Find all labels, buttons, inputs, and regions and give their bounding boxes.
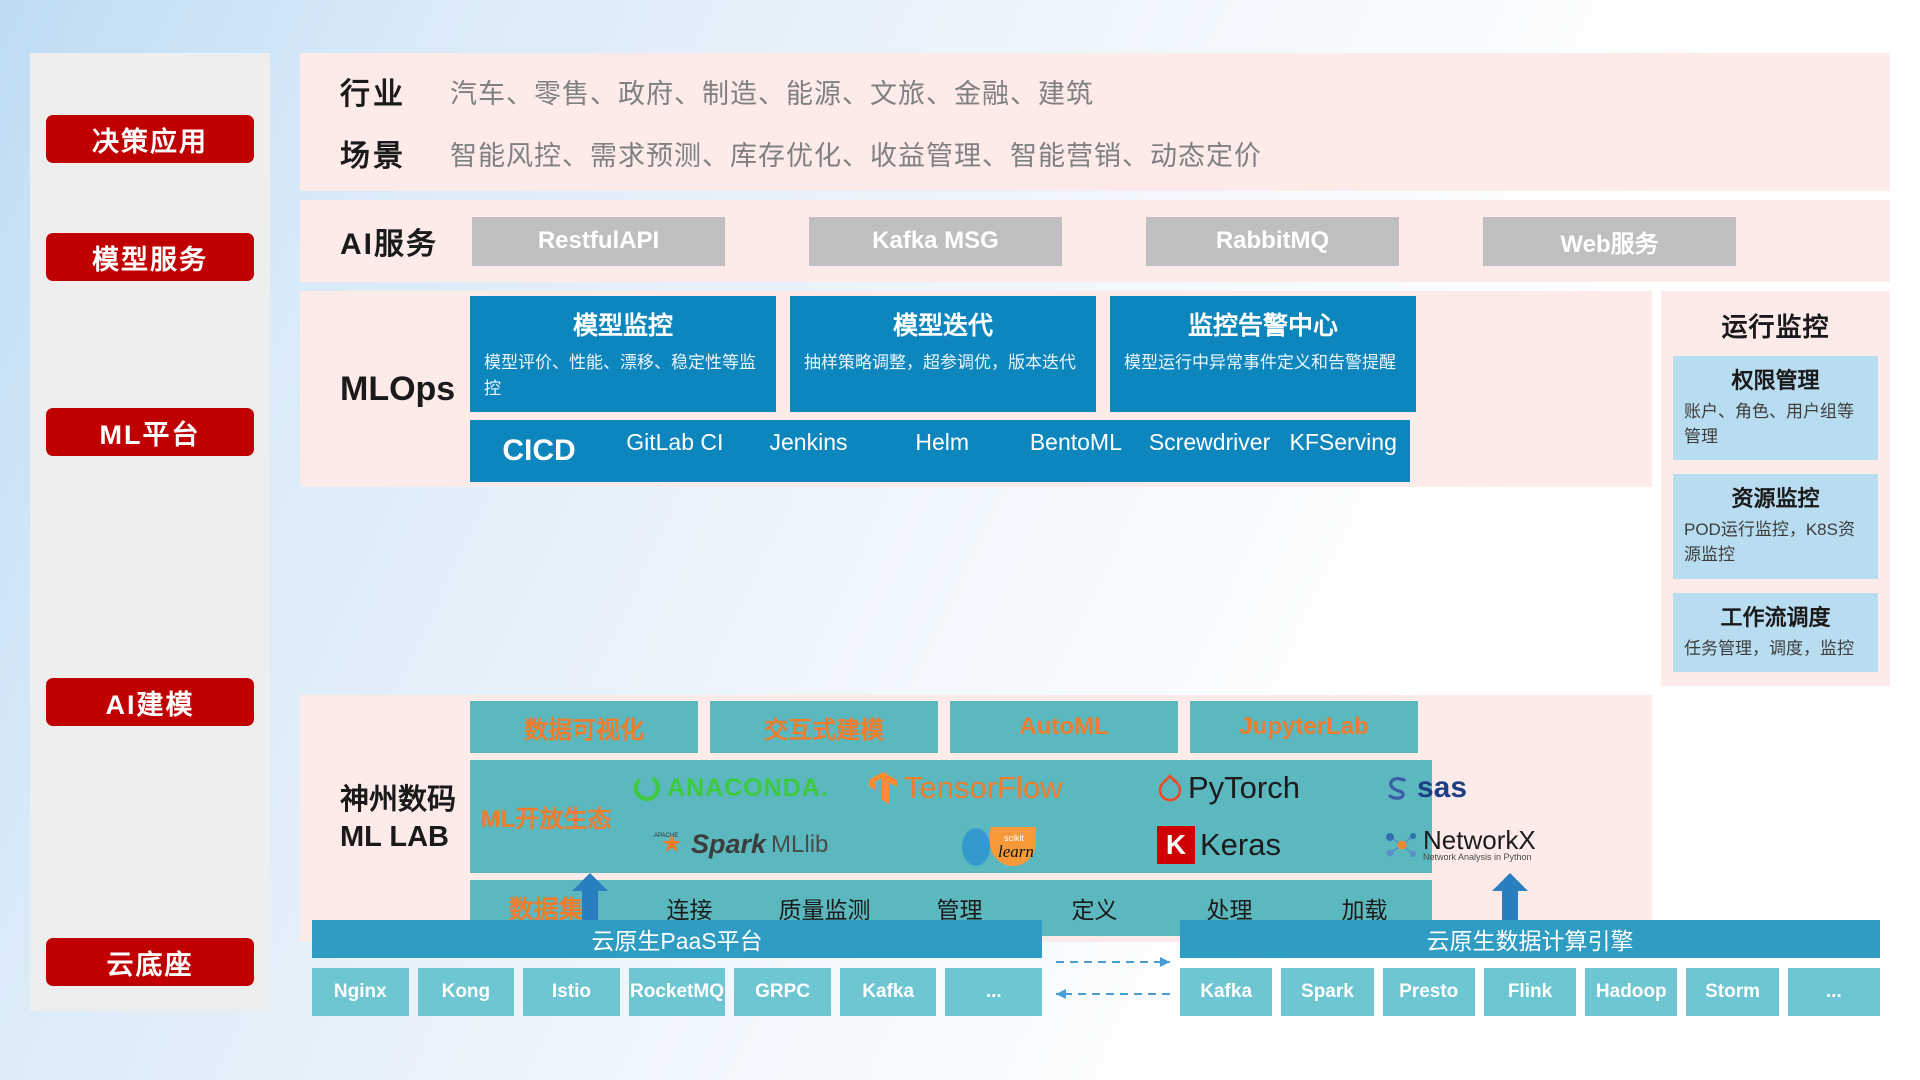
mlops-card-alert-center[interactable]: 监控告警中心 模型运行中异常事件定义和告警提醒	[1110, 296, 1416, 412]
rail-item-ml-platform[interactable]: ML平台	[46, 408, 254, 456]
cicd-item-helm[interactable]: Helm	[875, 420, 1009, 454]
bidirectional-dashed-connector	[1048, 948, 1178, 1008]
scikit-learn-icon: scikit learn	[954, 821, 1050, 869]
tensorflow-icon	[867, 770, 899, 806]
mllab-tab-label: 数据可视化	[524, 710, 644, 745]
anaconda-label: ANACONDA.	[667, 774, 829, 803]
mllab-tab-interactive-modeling[interactable]: 交互式建模	[710, 701, 938, 753]
ai-service-band: AI服务 RestfulAPI Kafka MSG RabbitMQ Web服务	[300, 200, 1890, 282]
rail-item-decision-app[interactable]: 决策应用	[46, 115, 254, 163]
industry-label: 行业	[340, 69, 450, 113]
svg-text:learn: learn	[998, 842, 1034, 861]
cloud-group-data-engine: 云原生数据计算引擎 Kafka Spark Presto Flink Hadoo…	[1180, 920, 1880, 1016]
monitor-card-title: 工作流调度	[1684, 600, 1867, 632]
engine-chip-hadoop[interactable]: Hadoop	[1585, 968, 1677, 1016]
industry-row: 行业 汽车、零售、政府、制造、能源、文旅、金融、建筑	[340, 69, 1262, 113]
rail-item-ai-modeling[interactable]: AI建模	[46, 678, 254, 726]
left-rail: 决策应用 模型服务 ML平台 AI建模 云底座	[30, 53, 270, 1011]
cicd-item-jenkins[interactable]: Jenkins	[742, 420, 876, 454]
scenario-label: 场景	[340, 131, 450, 175]
mllib-label: MLlib	[771, 831, 828, 859]
ml-ecosystem-row: ML开放生态 ANACONDA.	[470, 760, 1432, 873]
networkx-sublabel: Network Analysis in Python	[1423, 853, 1536, 862]
rail-item-label: 模型服务	[92, 238, 208, 277]
paas-chip-kong[interactable]: Kong	[418, 968, 515, 1016]
spark-mllib-logo: APACHE Spark MLlib	[622, 829, 867, 861]
cicd-item-kfserving[interactable]: KFServing	[1276, 420, 1410, 454]
ecosystem-logo-line-top: ANACONDA. TensorFlow	[622, 760, 1536, 817]
ai-service-box-label: RabbitMQ	[1216, 227, 1329, 255]
cicd-item-bentoml[interactable]: BentoML	[1009, 420, 1143, 454]
keras-label: Keras	[1200, 827, 1281, 863]
keras-icon: K	[1157, 826, 1195, 864]
engine-chip-spark[interactable]: Spark	[1281, 968, 1373, 1016]
paas-chip-rocketmq[interactable]: RocketMQ	[629, 968, 726, 1016]
mlops-card-model-iteration[interactable]: 模型迭代 抽样策略调整，超参调优，版本迭代	[790, 296, 1096, 412]
networkx-label: NetworkX	[1423, 827, 1536, 853]
paas-chip-istio[interactable]: Istio	[523, 968, 620, 1016]
runtime-monitor-title: 运行监控	[1673, 307, 1878, 344]
monitor-card-desc: POD运行监控，K8S资源监控	[1684, 518, 1867, 567]
tensorflow-logo: TensorFlow	[867, 770, 1157, 806]
scenario-value: 智能风控、需求预测、库存优化、收益管理、智能营销、动态定价	[450, 134, 1262, 173]
ecosystem-logo-line-bottom: APACHE Spark MLlib scikit	[622, 817, 1536, 874]
monitor-card-title: 权限管理	[1684, 363, 1867, 395]
monitor-card-desc: 任务管理，调度，监控	[1684, 637, 1867, 662]
engine-chip-kafka[interactable]: Kafka	[1180, 968, 1272, 1016]
rail-item-model-service[interactable]: 模型服务	[46, 233, 254, 281]
monitor-card-title: 资源监控	[1684, 481, 1867, 513]
spark-icon: APACHE	[652, 829, 686, 861]
paas-header: 云原生PaaS平台	[312, 920, 1042, 958]
sas-logo: sas	[1382, 771, 1467, 805]
main-content: 行业 汽车、零售、政府、制造、能源、文旅、金融、建筑 场景 智能风控、需求预测、…	[300, 53, 1890, 942]
engine-chip-flink[interactable]: Flink	[1484, 968, 1576, 1016]
monitor-card-resource[interactable]: 资源监控 POD运行监控，K8S资源监控	[1673, 474, 1878, 578]
ai-service-box-label: Kafka MSG	[872, 227, 999, 255]
mllab-tab-data-visualization[interactable]: 数据可视化	[470, 701, 698, 753]
paas-chip-more[interactable]: ...	[945, 968, 1042, 1016]
mlops-band: MLOps 模型监控 模型评价、性能、漂移、稳定性等监控 模型迭代 抽样策略调整…	[300, 291, 1652, 487]
mllab-label: 神州数码 ML LAB	[340, 782, 470, 855]
mllab-tab-label: JupyterLab	[1239, 713, 1368, 741]
mlops-label: MLOps	[340, 370, 470, 409]
mlops-card-title: 模型迭代	[804, 306, 1082, 342]
mlops-card-model-monitoring[interactable]: 模型监控 模型评价、性能、漂移、稳定性等监控	[470, 296, 776, 412]
engine-chip-more[interactable]: ...	[1788, 968, 1880, 1016]
ml-ecosystem-label: ML开放生态	[470, 799, 622, 834]
ai-service-box-web[interactable]: Web服务	[1483, 217, 1736, 266]
tensorflow-label: TensorFlow	[904, 770, 1063, 806]
monitor-card-permission[interactable]: 权限管理 账户、角色、用户组等管理	[1673, 356, 1878, 460]
rail-item-label: AI建模	[106, 683, 195, 722]
rail-item-label: 决策应用	[92, 120, 208, 159]
mllab-tab-label: 交互式建模	[764, 710, 884, 745]
monitor-card-desc: 账户、角色、用户组等管理	[1684, 400, 1867, 449]
mlops-card-title: 监控告警中心	[1124, 306, 1402, 342]
cicd-item-screwdriver[interactable]: Screwdriver	[1143, 420, 1277, 454]
cicd-bar: CICD GitLab CI Jenkins Helm BentoML Scre…	[470, 420, 1410, 482]
scenario-row: 场景 智能风控、需求预测、库存优化、收益管理、智能营销、动态定价	[340, 131, 1262, 175]
mllab-label-line1: 神州数码	[340, 782, 470, 818]
cloud-base-section: 云原生PaaS平台 Nginx Kong Istio RocketMQ GRPC…	[300, 878, 1890, 1038]
industry-value: 汽车、零售、政府、制造、能源、文旅、金融、建筑	[450, 72, 1094, 111]
arrow-up-paas-icon	[570, 873, 610, 921]
pytorch-icon	[1157, 773, 1183, 803]
sas-icon	[1382, 773, 1412, 803]
engine-chip-presto[interactable]: Presto	[1383, 968, 1475, 1016]
mllab-tab-automl[interactable]: AutoML	[950, 701, 1178, 753]
runtime-monitor-column: 运行监控 权限管理 账户、角色、用户组等管理 资源监控 POD运行监控，K8S资…	[1661, 291, 1890, 686]
ai-service-box-kafka-msg[interactable]: Kafka MSG	[809, 217, 1062, 266]
mlops-card-desc: 模型评价、性能、漂移、稳定性等监控	[484, 350, 762, 401]
spark-label: Spark	[691, 829, 766, 860]
svg-text:APACHE: APACHE	[654, 833, 678, 839]
paas-chip-nginx[interactable]: Nginx	[312, 968, 409, 1016]
pytorch-logo: PyTorch	[1157, 770, 1382, 806]
mlops-card-title: 模型监控	[484, 306, 762, 342]
monitor-card-workflow[interactable]: 工作流调度 任务管理，调度，监控	[1673, 593, 1878, 673]
ai-service-box-label: Web服务	[1560, 224, 1658, 259]
rail-item-label: 云底座	[107, 943, 194, 982]
engine-chip-storm[interactable]: Storm	[1686, 968, 1778, 1016]
scikit-learn-logo: scikit learn	[867, 821, 1157, 869]
ai-service-label: AI服务	[340, 219, 450, 263]
mlops-card-desc: 抽样策略调整，超参调优，版本迭代	[804, 350, 1082, 376]
anaconda-icon	[632, 773, 662, 803]
arrow-up-data-engine-icon	[1490, 873, 1530, 921]
paas-chip-grpc[interactable]: GRPC	[734, 968, 831, 1016]
ai-service-box-rabbitmq[interactable]: RabbitMQ	[1146, 217, 1399, 266]
keras-logo: K Keras	[1157, 826, 1382, 864]
rail-item-cloud-base[interactable]: 云底座	[46, 938, 254, 986]
paas-chip-kafka[interactable]: Kafka	[840, 968, 937, 1016]
networkx-icon	[1382, 829, 1418, 861]
mlops-card-desc: 模型运行中异常事件定义和告警提醒	[1124, 350, 1402, 376]
mllab-label-line2: ML LAB	[340, 819, 470, 855]
mllab-tab-jupyterlab[interactable]: JupyterLab	[1190, 701, 1418, 753]
rail-item-label: ML平台	[100, 413, 201, 452]
industry-scenario-band: 行业 汽车、零售、政府、制造、能源、文旅、金融、建筑 场景 智能风控、需求预测、…	[300, 53, 1890, 191]
anaconda-logo: ANACONDA.	[622, 773, 867, 803]
pytorch-label: PyTorch	[1188, 770, 1300, 806]
ai-service-box-label: RestfulAPI	[538, 227, 659, 255]
cicd-item-gitlab-ci[interactable]: GitLab CI	[608, 420, 742, 454]
cicd-title: CICD	[470, 434, 608, 468]
networkx-logo: NetworkX Network Analysis in Python	[1382, 827, 1536, 862]
mllab-tab-label: AutoML	[1019, 713, 1108, 741]
ai-service-box-restfulapi[interactable]: RestfulAPI	[472, 217, 725, 266]
cloud-group-paas: 云原生PaaS平台 Nginx Kong Istio RocketMQ GRPC…	[312, 920, 1042, 1016]
sas-label: sas	[1417, 771, 1467, 805]
data-engine-header: 云原生数据计算引擎	[1180, 920, 1880, 958]
